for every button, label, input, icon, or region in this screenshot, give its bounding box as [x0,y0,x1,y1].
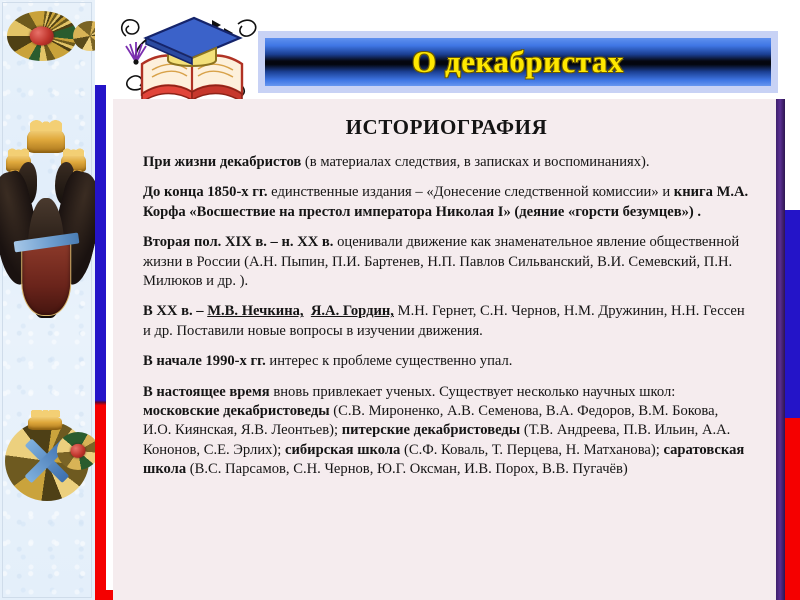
p6-school-moscow: московские декабристоведы [143,403,330,419]
order-star-medallion-top-right [72,18,95,54]
p5-lead: В начале 1990-х гг. [143,353,266,369]
p6-rest: вновь привлекает ученых. Существует неск… [270,384,676,400]
p3-lead: Вторая пол. XIX в. – н. XX в. [143,234,333,250]
title-banner-gradient: О декабристах [265,38,771,86]
p4-name-gordin: Я.А. Гордин, [311,303,394,319]
p1-rest: (в материалах следствия, в записках и во… [301,154,649,170]
imperial-coat-of-arms-border [0,0,95,600]
order-star-medallion-bottom-right [56,430,95,472]
p6-school-saratov-members: (В.С. Парсамов, С.Н. Чернов, Ю.Г. Оксман… [186,461,628,477]
right-purple-rail [776,99,785,600]
p6-school-petersburg: питерские декабристоведы [342,422,521,438]
content-panel: ИСТОРИОГРАФИЯ При жизни декабристов (в м… [113,99,776,600]
p6-lead: В настоящее время [143,384,270,400]
p1-lead: При жизни декабристов [143,154,301,170]
section-heading: ИСТОРИОГРАФИЯ [143,115,750,140]
content-panel-outer: ИСТОРИОГРАФИЯ При жизни декабристов (в м… [113,99,785,600]
paragraph-until-1850s: До конца 1850-х гг. единственные издания… [143,183,750,222]
paragraph-present-day: В настоящее время вновь привлекает учены… [143,383,750,480]
p2-lead: До конца 1850-х гг. [143,184,268,200]
double-headed-eagle [0,125,95,340]
clipart-svg [112,2,272,107]
paragraph-early-1990s: В начале 1990-х гг. интерес к проблеме с… [143,352,750,371]
crown-center [27,127,66,153]
graduation-cap-and-book-icon [112,2,272,107]
medallion-crown [28,415,62,430]
left-accent-bar [95,85,106,600]
p6-school-siberian: сибирская школа [285,442,400,458]
p5-rest: интерес к проблеме существенно упал. [266,353,513,369]
p4-name-nechkina: М.В. Нечкина, [207,303,303,319]
eagle-breast-shield [21,241,71,316]
p6-school-siberian-members: (С.Ф. Коваль, Т. Перцева, Н. Матханова); [400,442,663,458]
paragraph-during-lifetime: При жизни декабристов (в материалах след… [143,153,750,172]
order-star-medallion-top [6,8,78,64]
p2-rest: единственные издания – «Донесение следст… [268,184,674,200]
presentation-slide: О декабристах [0,0,800,600]
p4-lead: В XX в. – [143,303,207,319]
paragraph-19th-20th-century: Вторая пол. XIX в. – н. XX в. оценивали … [143,233,750,291]
star-rays-small [73,21,95,51]
slide-title: О декабристах [412,44,624,80]
title-banner: О декабристах [258,31,778,93]
paragraph-20th-century: В XX в. – М.В. Нечкина, Я.А. Гордин, М.Н… [143,302,750,341]
